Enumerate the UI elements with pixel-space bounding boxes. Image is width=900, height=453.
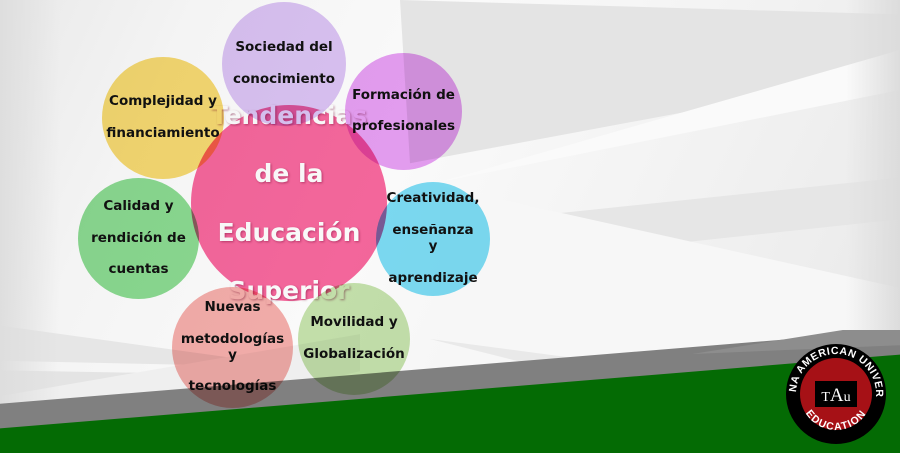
center-line: de la [205,159,373,188]
bubble-line: cuentas [85,262,192,278]
bubble-line: metodologías y [175,332,290,364]
bubble-line: tecnologías [175,379,290,395]
center-line: Tendencias [205,101,373,130]
bubble-line: enseñanza y [381,223,486,255]
background-ray [440,120,900,280]
bubble-line: conocimiento [227,72,341,88]
tau-university-logo[interactable]: TECANA AMERICAN UNIVERSITY EDUCATION TAu [782,340,890,448]
bubble-line: aprendizaje [381,271,486,287]
bubble-line: Movilidad y [297,315,411,331]
center-line: Superior [205,276,373,305]
background-edge-shade-left [0,0,60,453]
bubble-line: Sociedad del [227,40,341,56]
bubble-line: Globalización [297,347,411,363]
bubble-calidad-rendicion-cuentas[interactable]: Calidad y rendición de cuentas [78,178,199,299]
center-line: Educación [205,218,373,247]
bubble-line: Creatividad, [381,191,486,207]
bubble-creatividad-ensenanza-aprendizaje[interactable]: Creatividad, enseñanza y aprendizaje [376,182,490,296]
background-ray [440,22,900,222]
bubble-center-tendencias-educacion-superior[interactable]: Tendencias de la Educación Superior [191,105,387,301]
slide-canvas: Sociedad del conocimiento Formación de p… [0,0,900,453]
bubble-line: rendición de [85,231,192,247]
bubble-line: Calidad y [85,199,192,215]
